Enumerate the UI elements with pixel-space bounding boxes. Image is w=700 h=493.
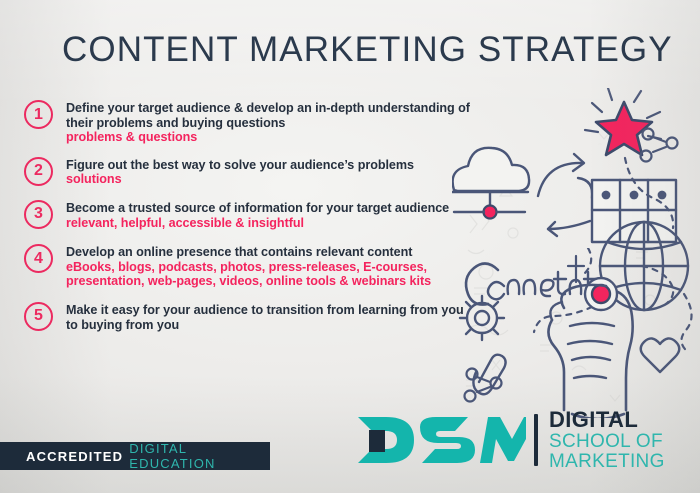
step-body: Become a trusted source of information f… — [66, 200, 474, 230]
step-body: Figure out the best way to solve your au… — [66, 157, 474, 187]
step-body: Define your target audience & develop an… — [66, 100, 474, 145]
step-number-badge: 4 — [24, 244, 53, 273]
hand-writing-content-illustration — [452, 248, 700, 418]
page-title: CONTENT MARKETING STRATEGY — [62, 30, 673, 70]
strategy-steps-list: 1 Define your target audience & develop … — [22, 100, 474, 332]
step-main-text: Develop an online presence that contains… — [66, 245, 474, 260]
list-item: 5 Make it easy for your audience to tran… — [22, 302, 474, 332]
accredited-badge: ACCREDITED DIGITAL EDUCATION — [0, 442, 270, 470]
logo-wordmark: DIGITAL SCHOOL OF MARKETING — [549, 409, 665, 471]
step-body: Develop an online presence that contains… — [66, 244, 474, 289]
badge-accredited-label: ACCREDITED — [26, 449, 123, 464]
slide-canvas: CONTENT MARKETING STRATEGY 1 Define your… — [0, 0, 700, 493]
step-sub-text: problems & questions — [66, 130, 474, 145]
step-sub-text: relevant, helpful, accessible & insightf… — [66, 216, 474, 231]
step-number-badge: 5 — [24, 302, 53, 331]
list-item: 1 Define your target audience & develop … — [22, 100, 474, 145]
step-main-text: Become a trusted source of information f… — [66, 201, 474, 216]
step-number-badge: 3 — [24, 200, 53, 229]
step-body: Make it easy for your audience to transi… — [66, 302, 474, 332]
step-number-badge: 1 — [24, 100, 53, 129]
logo-line-school-of: SCHOOL OF — [549, 432, 665, 451]
step-main-text: Define your target audience & develop an… — [66, 101, 474, 130]
step-sub-text: eBooks, blogs, podcasts, photos, press-r… — [66, 260, 474, 289]
logo-divider — [534, 414, 538, 466]
list-item: 2 Figure out the best way to solve your … — [22, 157, 474, 187]
logo-line-digital: DIGITAL — [549, 409, 665, 431]
step-number-badge: 2 — [24, 157, 53, 186]
step-main-text: Figure out the best way to solve your au… — [66, 158, 474, 173]
dsm-logo: DIGITAL SCHOOL OF MARKETING — [356, 409, 665, 471]
step-sub-text: solutions — [66, 172, 474, 187]
step-main-text: Make it easy for your audience to transi… — [66, 303, 474, 332]
list-item: 3 Become a trusted source of information… — [22, 200, 474, 230]
list-item: 4 Develop an online presence that contai… — [22, 244, 474, 289]
dsm-monogram-icon — [356, 411, 526, 469]
logo-line-marketing: MARKETING — [549, 452, 665, 471]
badge-digital-education-label: DIGITAL EDUCATION — [129, 441, 270, 471]
